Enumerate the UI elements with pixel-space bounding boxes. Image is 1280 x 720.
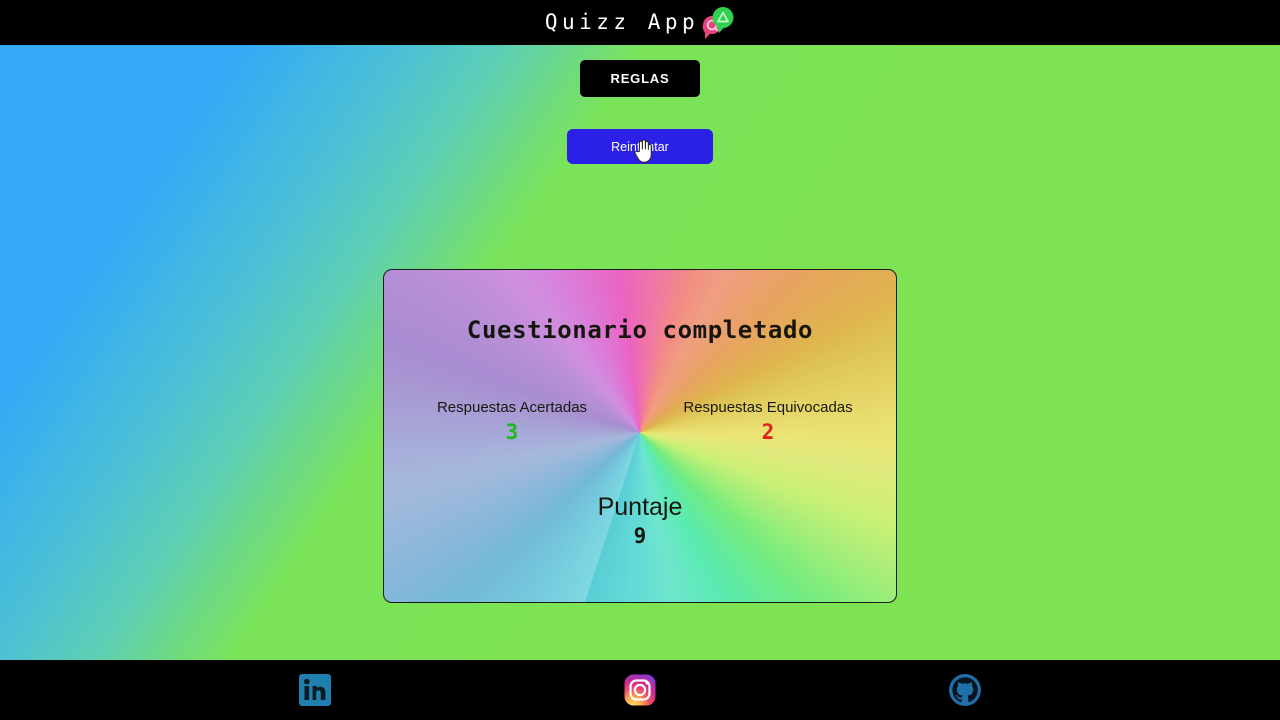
brand: Quizz App xyxy=(545,3,735,43)
result-card-content: Cuestionario completado Respuestas Acert… xyxy=(384,270,896,602)
quiz-bubbles-icon xyxy=(699,3,735,43)
site-footer xyxy=(0,660,1280,720)
score-value: 9 xyxy=(384,522,896,550)
app-root: Quizz App REGLAS Reintentar xyxy=(0,0,1280,720)
stat-wrong-label: Respuestas Equivocadas xyxy=(640,398,896,418)
stat-wrong: Respuestas Equivocadas 2 xyxy=(640,398,896,446)
site-header: Quizz App xyxy=(0,0,1280,45)
github-icon xyxy=(947,672,983,708)
result-card: Cuestionario completado Respuestas Acert… xyxy=(383,269,897,603)
stat-correct-value: 3 xyxy=(384,418,640,446)
instagram-link[interactable] xyxy=(622,672,658,708)
result-card-title: Cuestionario completado xyxy=(384,316,896,344)
github-link[interactable] xyxy=(947,672,983,708)
main-stage: REGLAS Reintentar Cuestionario completad… xyxy=(0,45,1280,660)
stat-wrong-value: 2 xyxy=(640,418,896,446)
stat-correct: Respuestas Acertadas 3 xyxy=(384,398,640,446)
linkedin-link[interactable] xyxy=(297,672,333,708)
linkedin-icon xyxy=(297,672,333,708)
stats-row: Respuestas Acertadas 3 Respuestas Equivo… xyxy=(384,398,896,446)
stat-correct-label: Respuestas Acertadas xyxy=(384,398,640,418)
app-title: Quizz App xyxy=(545,12,699,33)
instagram-icon xyxy=(622,672,658,708)
score-label: Puntaje xyxy=(384,492,896,522)
retry-button[interactable]: Reintentar xyxy=(567,129,713,164)
score-block: Puntaje 9 xyxy=(384,492,896,550)
rules-button[interactable]: REGLAS xyxy=(580,60,700,97)
